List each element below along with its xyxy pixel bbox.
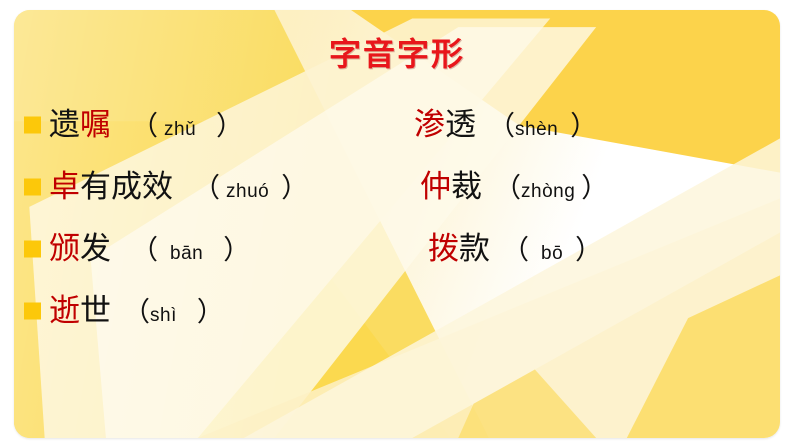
close-paren: ） bbox=[581, 175, 608, 202]
slide-title: 字音字形 bbox=[14, 38, 780, 70]
pinyin-text: bō bbox=[541, 243, 563, 265]
word-highlight-part: 逝 bbox=[49, 294, 80, 328]
word-normal-part: 有成效 bbox=[80, 170, 173, 204]
vocabulary-row: 颁发（bān） 拨款（bō） bbox=[14, 218, 780, 280]
word-normal-part: 遗 bbox=[49, 108, 80, 142]
pinyin-text: zhǔ bbox=[164, 119, 196, 141]
pinyin-text: bān bbox=[170, 243, 203, 265]
bullet-square-icon bbox=[24, 241, 41, 258]
slide-card: 字音字形 遗嘱（zhǔ） 渗透（shèn） 卓有成效（zh bbox=[14, 10, 780, 438]
open-paren: （ bbox=[193, 175, 220, 202]
vocabulary-entry: 颁发（bān） bbox=[49, 232, 250, 266]
word-highlight-part: 渗 bbox=[414, 108, 445, 142]
word-highlight-part: 仲 bbox=[420, 170, 451, 204]
word-normal-part: 透 bbox=[445, 108, 476, 142]
slide-canvas: 字音字形 遗嘱（zhǔ） 渗透（shèn） 卓有成效（zh bbox=[0, 0, 794, 447]
word-normal-part: 裁 bbox=[451, 170, 482, 204]
close-paren: ） bbox=[575, 237, 602, 264]
open-paren: （ bbox=[123, 299, 150, 326]
word-highlight-part: 嘱 bbox=[80, 108, 111, 142]
bullet-square-icon bbox=[24, 117, 41, 134]
vocabulary-entry: 渗透（shèn） bbox=[414, 108, 597, 142]
vocabulary-entry: 卓有成效（zhuó） bbox=[49, 170, 308, 204]
vocabulary-row: 卓有成效（zhuó） 仲裁（zhòng） bbox=[14, 156, 780, 218]
vocabulary-entry: 拨款（bō） bbox=[428, 232, 602, 266]
pinyin-text: shì bbox=[150, 305, 177, 327]
word-highlight-part: 颁 bbox=[49, 232, 80, 266]
vocabulary-row: 逝世（shì） bbox=[14, 280, 780, 342]
pinyin-text: zhuó bbox=[226, 181, 269, 203]
open-paren: （ bbox=[131, 237, 158, 264]
vocabulary-row: 遗嘱（zhǔ） 渗透（shèn） bbox=[14, 94, 780, 156]
bullet-square-icon bbox=[24, 179, 41, 196]
close-paren: ） bbox=[223, 237, 250, 264]
close-paren: ） bbox=[216, 113, 243, 140]
word-highlight-part: 拨 bbox=[428, 232, 459, 266]
open-paren: （ bbox=[131, 113, 158, 140]
pinyin-text: zhòng bbox=[521, 181, 575, 203]
pinyin-text: shèn bbox=[515, 119, 558, 141]
slide-content: 字音字形 遗嘱（zhǔ） 渗透（shèn） 卓有成效（zh bbox=[14, 10, 780, 438]
open-paren: （ bbox=[502, 237, 529, 264]
open-paren: （ bbox=[494, 175, 521, 202]
word-normal-part: 发 bbox=[80, 232, 111, 266]
word-normal-part: 世 bbox=[80, 294, 111, 328]
word-normal-part: 款 bbox=[459, 232, 490, 266]
close-paren: ） bbox=[570, 113, 597, 140]
open-paren: （ bbox=[488, 113, 515, 140]
vocabulary-list: 遗嘱（zhǔ） 渗透（shèn） 卓有成效（zhuó） 仲裁（zhòng） bbox=[14, 94, 780, 342]
close-paren: ） bbox=[197, 299, 224, 326]
word-highlight-part: 卓 bbox=[49, 170, 80, 204]
vocabulary-entry: 逝世（shì） bbox=[49, 294, 224, 328]
bullet-square-icon bbox=[24, 303, 41, 320]
close-paren: ） bbox=[281, 175, 308, 202]
vocabulary-entry: 遗嘱（zhǔ） bbox=[49, 108, 243, 142]
vocabulary-entry: 仲裁（zhòng） bbox=[420, 170, 608, 204]
